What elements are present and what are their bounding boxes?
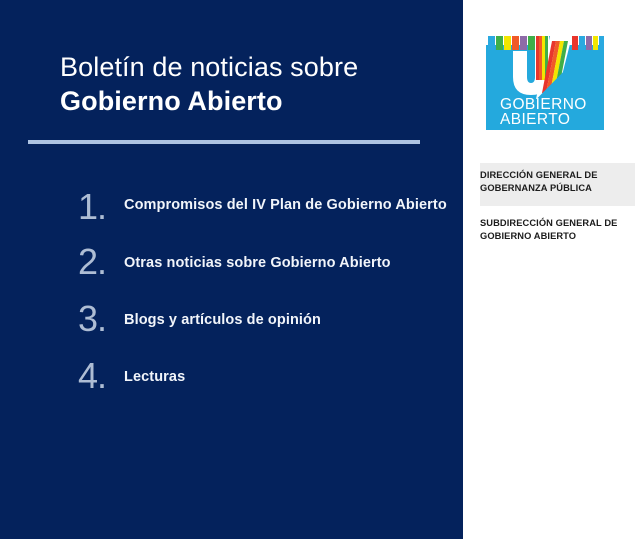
logo-wordmark-line-2: ABIERTO xyxy=(500,111,570,128)
title-divider xyxy=(28,140,420,144)
gobierno-abierto-logo: GOBIERNO ABIERTO xyxy=(486,33,604,143)
toc-label-2: Otras noticias sobre Gobierno Abierto xyxy=(124,245,448,274)
toc-number-2: 2. xyxy=(78,245,124,279)
title-line-2: Gobierno Abierto xyxy=(60,84,440,118)
left-blue-panel: Boletín de noticias sobre Gobierno Abier… xyxy=(0,0,463,539)
toc-label-1: Compromisos del IV Plan de Gobierno Abie… xyxy=(124,192,448,216)
toc-number-1: 1. xyxy=(78,192,124,222)
title-line-1: Boletín de noticias sobre xyxy=(60,50,440,84)
toc-item-1[interactable]: 1. Compromisos del IV Plan de Gobierno A… xyxy=(78,192,448,222)
toc-item-3[interactable]: 3. Blogs y artículos de opinión xyxy=(78,302,448,336)
org-unit-secondary: SUBDIRECCIÓN GENERAL DE GOBIERNO ABIERTO xyxy=(480,217,632,243)
slide-root: Boletín de noticias sobre Gobierno Abier… xyxy=(0,0,635,539)
right-brand-panel: GOBIERNO ABIERTO DIRECCIÓN GENERAL DE GO… xyxy=(463,0,635,539)
toc-number-4: 4. xyxy=(78,359,124,393)
toc-item-4[interactable]: 4. Lecturas xyxy=(78,359,448,393)
logo-svg: GOBIERNO ABIERTO xyxy=(486,33,604,143)
table-of-contents: 1. Compromisos del IV Plan de Gobierno A… xyxy=(78,192,448,416)
org-unit-primary: DIRECCIÓN GENERAL DE GOBERNANZA PÚBLICA xyxy=(480,169,632,195)
toc-item-2[interactable]: 2. Otras noticias sobre Gobierno Abierto xyxy=(78,245,448,279)
page-title: Boletín de noticias sobre Gobierno Abier… xyxy=(60,50,440,118)
toc-number-3: 3. xyxy=(78,302,124,336)
toc-label-4: Lecturas xyxy=(124,359,448,388)
toc-label-3: Blogs y artículos de opinión xyxy=(124,302,448,331)
logo-color-bars-right xyxy=(572,36,604,50)
